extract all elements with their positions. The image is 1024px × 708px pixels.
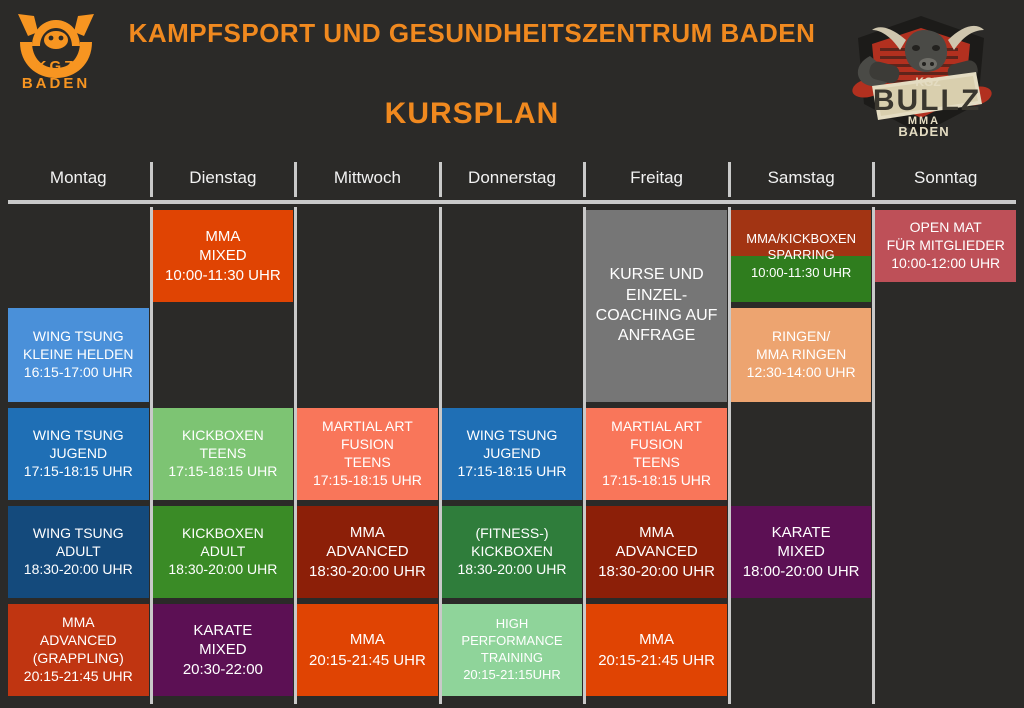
class-title-line: FUSION [630,436,683,454]
class-event[interactable]: KARATEMIXED18:00-20:00 UHR [731,506,872,598]
class-time: 20:15-21:45 UHR [598,651,715,670]
schedule-body: WING TSUNGKLEINE HELDEN16:15-17:00 UHRWI… [8,204,1016,704]
empty-slot [297,305,438,405]
class-title-line: KURSE UND [609,265,703,285]
class-title-line: SPARRING [768,247,835,264]
class-time: 17:15-18:15 UHR [602,472,711,490]
empty-slot [731,405,872,503]
empty-slot [875,305,1016,405]
class-title-line: KICKBOXEN [182,427,264,445]
class-title-line: MMA [62,614,95,632]
class-title-line: ADULT [200,543,245,561]
empty-slot [153,305,294,405]
class-title-line: MMA [639,630,674,649]
day-column-donnerstag: WING TSUNGJUGEND17:15-18:15 UHR(FITNESS-… [442,207,583,704]
class-time: 17:15-18:15 UHR [313,472,422,490]
day-column-samstag: MMA/KICKBOXENSPARRING10:00-11:30 UHRRING… [731,207,872,704]
class-title-line: HIGH [496,616,529,633]
class-title-line: MARTIAL ART [611,418,702,436]
day-header-freitag: Freitag [586,160,727,196]
class-slot: HIGHPERFORMANCETRAINING20:15-21:15UHR [442,601,583,699]
class-title-line: MIXED [199,246,247,265]
kgz-logo-line1: KGZ [36,58,77,75]
class-event[interactable]: WING TSUNGJUGEND17:15-18:15 UHR [8,408,149,500]
class-time: 18:30-20:00 UHR [458,561,567,579]
empty-slot [875,405,1016,503]
empty-slot [297,207,438,305]
svg-text:BULLZ: BULLZ [873,84,981,117]
class-event[interactable]: MARTIAL ARTFUSIONTEENS17:15-18:15 UHR [297,408,438,500]
class-slot: WING TSUNGKLEINE HELDEN16:15-17:00 UHR [8,305,149,405]
day-header-samstag: Samstag [731,160,872,196]
class-title-line: MIXED [199,640,247,659]
class-event[interactable]: HIGHPERFORMANCETRAINING20:15-21:15UHR [442,604,583,696]
class-time: 18:00-20:00 UHR [743,562,860,581]
schedule-grid: MontagDienstagMittwochDonnerstagFreitagS… [0,160,1024,704]
class-title-line: KICKBOXEN [182,525,264,543]
day-header-label: Freitag [630,168,683,188]
class-title-line: COACHING AUF [596,306,718,326]
class-slot: MMAMIXED10:00-11:30 UHR [153,207,294,305]
class-title-line: TEENS [344,454,391,472]
class-time: 16:15-17:00 UHR [24,364,133,382]
empty-slot [442,207,583,305]
class-slot: MMA20:15-21:45 UHR [586,601,727,699]
class-time: 10:00-11:30 UHR [751,265,851,282]
page-title: KAMPFSPORT UND GESUNDHEITSZENTRUM BADEN [120,18,824,49]
class-title-line: KARATE [772,523,831,542]
empty-slot [442,305,583,405]
class-title-line: OPEN MAT [910,219,982,237]
class-event[interactable]: WING TSUNGKLEINE HELDEN16:15-17:00 UHR [8,308,149,402]
class-title-line: ANFRAGE [618,326,695,346]
class-event[interactable]: MMAMIXED10:00-11:30 UHR [153,210,294,302]
class-time: 17:15-18:15 UHR [458,463,567,481]
class-slot: MMA/KICKBOXENSPARRING10:00-11:30 UHR [731,207,872,305]
day-column-sonntag: OPEN MATFÜR MITGLIEDER10:00-12:00 UHR [875,207,1016,704]
class-title-line: EINZEL- [626,286,687,306]
day-header-label: Dienstag [189,168,256,188]
class-slot: WING TSUNGJUGEND17:15-18:15 UHR [442,405,583,503]
class-event[interactable]: MMAADVANCED18:30-20:00 UHR [297,506,438,598]
class-event[interactable]: MMA/KICKBOXENSPARRING10:00-11:30 UHR [731,210,872,302]
class-time: 18:30-20:00 UHR [598,562,715,581]
day-header-sonntag: Sonntag [875,160,1016,196]
class-title-line: WING TSUNG [33,427,124,445]
class-event[interactable]: KICKBOXENTEENS17:15-18:15 UHR [153,408,294,500]
class-title-line: ADVANCED [615,542,697,561]
class-event[interactable]: KICKBOXENADULT18:30-20:00 UHR [153,506,294,598]
class-title-line: MMA RINGEN [756,346,846,364]
class-title-line: KLEINE HELDEN [23,346,133,364]
class-event[interactable]: MMAADVANCED(GRAPPLING)20:15-21:45 UHR [8,604,149,696]
day-header-mittwoch: Mittwoch [297,160,438,196]
class-event[interactable]: MARTIAL ARTFUSIONTEENS17:15-18:15 UHR [586,408,727,500]
class-title-line: KARATE [193,621,252,640]
empty-slot [875,601,1016,699]
class-event[interactable]: RINGEN/MMA RINGEN12:30-14:00 UHR [731,308,872,402]
class-title-line: ADVANCED [326,542,408,561]
class-slot: MMAADVANCED(GRAPPLING)20:15-21:45 UHR [8,601,149,699]
day-column-montag: WING TSUNGKLEINE HELDEN16:15-17:00 UHRWI… [8,207,149,704]
class-slot: WING TSUNGADULT18:30-20:00 UHR [8,503,149,601]
day-header-montag: Montag [8,160,149,196]
day-header-label: Samstag [768,168,835,188]
empty-slot [8,207,149,305]
class-event[interactable]: WING TSUNGADULT18:30-20:00 UHR [8,506,149,598]
class-title-line: TEENS [633,454,680,472]
day-column-freitag: KURSE UNDEINZEL-COACHING AUFANFRAGEMARTI… [586,207,727,704]
class-time: 18:30-20:00 UHR [168,561,277,579]
class-title-line: FÜR MITGLIEDER [887,237,1005,255]
class-title-line: MMA [350,630,385,649]
day-header-label: Sonntag [914,168,977,188]
class-slot: (FITNESS-)KICKBOXEN18:30-20:00 UHR [442,503,583,601]
class-title-line: ADVANCED [40,632,117,650]
kgz-bullz-mma-baden-logo: KGZ BULLZ MMA BADEN [828,0,1014,150]
class-time: 20:15-21:45 UHR [24,668,133,686]
class-title-line: MIXED [777,542,825,561]
class-event[interactable]: KARATEMIXED20:30-22:00 [153,604,294,696]
class-title-line: RINGEN/ [772,328,830,346]
day-column-mittwoch: MARTIAL ARTFUSIONTEENS17:15-18:15 UHRMMA… [297,207,438,704]
class-title-line: TRAINING [481,650,543,667]
class-slot: MMA20:15-21:45 UHR [297,601,438,699]
class-slot: MARTIAL ARTFUSIONTEENS17:15-18:15 UHR [586,405,727,503]
day-header-donnerstag: Donnerstag [442,160,583,196]
day-header-dienstag: Dienstag [153,160,294,196]
svg-text:BADEN: BADEN [898,124,949,139]
class-title-line: JUGEND [50,445,108,463]
class-event[interactable]: KURSE UNDEINZEL-COACHING AUFANFRAGE [586,210,727,402]
class-title-line: KICKBOXEN [471,543,553,561]
day-header-row: MontagDienstagMittwochDonnerstagFreitagS… [8,160,1016,196]
class-slot: KURSE UNDEINZEL-COACHING AUFANFRAGE [586,207,727,405]
class-event[interactable]: MMA20:15-21:45 UHR [586,604,727,696]
class-slot: WING TSUNGJUGEND17:15-18:15 UHR [8,405,149,503]
class-title-line: MMA [639,523,674,542]
class-title-line: MMA [205,227,240,246]
class-title-line: JUGEND [483,445,541,463]
class-title-line: (GRAPPLING) [33,650,124,668]
kgz-baden-logo: KGZ BADEN [8,6,104,102]
day-header-label: Donnerstag [468,168,556,188]
day-header-label: Mittwoch [334,168,401,188]
class-title-line: ADULT [56,543,101,561]
class-time: 18:30-20:00 UHR [24,561,133,579]
class-slot: MARTIAL ARTFUSIONTEENS17:15-18:15 UHR [297,405,438,503]
class-title-line: FUSION [341,436,394,454]
class-time: 17:15-18:15 UHR [168,463,277,481]
class-time: 10:00-12:00 UHR [891,255,1000,273]
class-time: 17:15-18:15 UHR [24,463,133,481]
kursplan-page: KGZ BADEN KAMPFSPORT UND GESUNDHEITSZENT… [0,0,1024,708]
class-slot: KICKBOXENADULT18:30-20:00 UHR [153,503,294,601]
class-title-line: MMA [350,523,385,542]
class-time: 20:30-22:00 [183,660,263,679]
class-event[interactable]: MMA20:15-21:45 UHR [297,604,438,696]
class-time: 20:15-21:45 UHR [309,651,426,670]
class-event[interactable]: MMAADVANCED18:30-20:00 UHR [586,506,727,598]
class-time: 20:15-21:15UHR [463,667,561,684]
class-slot: KICKBOXENTEENS17:15-18:15 UHR [153,405,294,503]
class-event[interactable]: WING TSUNGJUGEND17:15-18:15 UHR [442,408,583,500]
class-time: 10:00-11:30 UHR [165,266,281,285]
class-slot: MMAADVANCED18:30-20:00 UHR [297,503,438,601]
class-title-line: MMA/KICKBOXEN [746,231,856,248]
empty-slot [731,601,872,699]
class-slot: MMAADVANCED18:30-20:00 UHR [586,503,727,601]
class-slot: RINGEN/MMA RINGEN12:30-14:00 UHR [731,305,872,405]
class-title-line: WING TSUNG [33,525,124,543]
class-title-line: TEENS [200,445,247,463]
class-title-line: WING TSUNG [467,427,558,445]
title-block: KAMPFSPORT UND GESUNDHEITSZENTRUM BADEN … [120,18,824,131]
kgz-logo-line2: BADEN [8,75,104,92]
class-title-line: MARTIAL ART [322,418,413,436]
page-subtitle: KURSPLAN [120,97,824,131]
class-slot: KARATEMIXED20:30-22:00 [153,601,294,699]
day-column-dienstag: MMAMIXED10:00-11:30 UHRKICKBOXENTEENS17:… [153,207,294,704]
class-title-line: PERFORMANCE [461,633,562,650]
class-slot: OPEN MATFÜR MITGLIEDER10:00-12:00 UHR [875,207,1016,305]
class-title-line: (FITNESS-) [475,525,548,543]
class-slot: KARATEMIXED18:00-20:00 UHR [731,503,872,601]
empty-slot [875,503,1016,601]
class-event[interactable]: (FITNESS-)KICKBOXEN18:30-20:00 UHR [442,506,583,598]
day-header-label: Montag [50,168,107,188]
class-time: 12:30-14:00 UHR [747,364,856,382]
class-title-line: WING TSUNG [33,328,124,346]
class-event[interactable]: OPEN MATFÜR MITGLIEDER10:00-12:00 UHR [875,210,1016,282]
kgz-logo-text: KGZ BADEN [8,58,104,92]
page-header: KGZ BADEN KAMPFSPORT UND GESUNDHEITSZENT… [0,0,1024,160]
class-time: 18:30-20:00 UHR [309,562,426,581]
